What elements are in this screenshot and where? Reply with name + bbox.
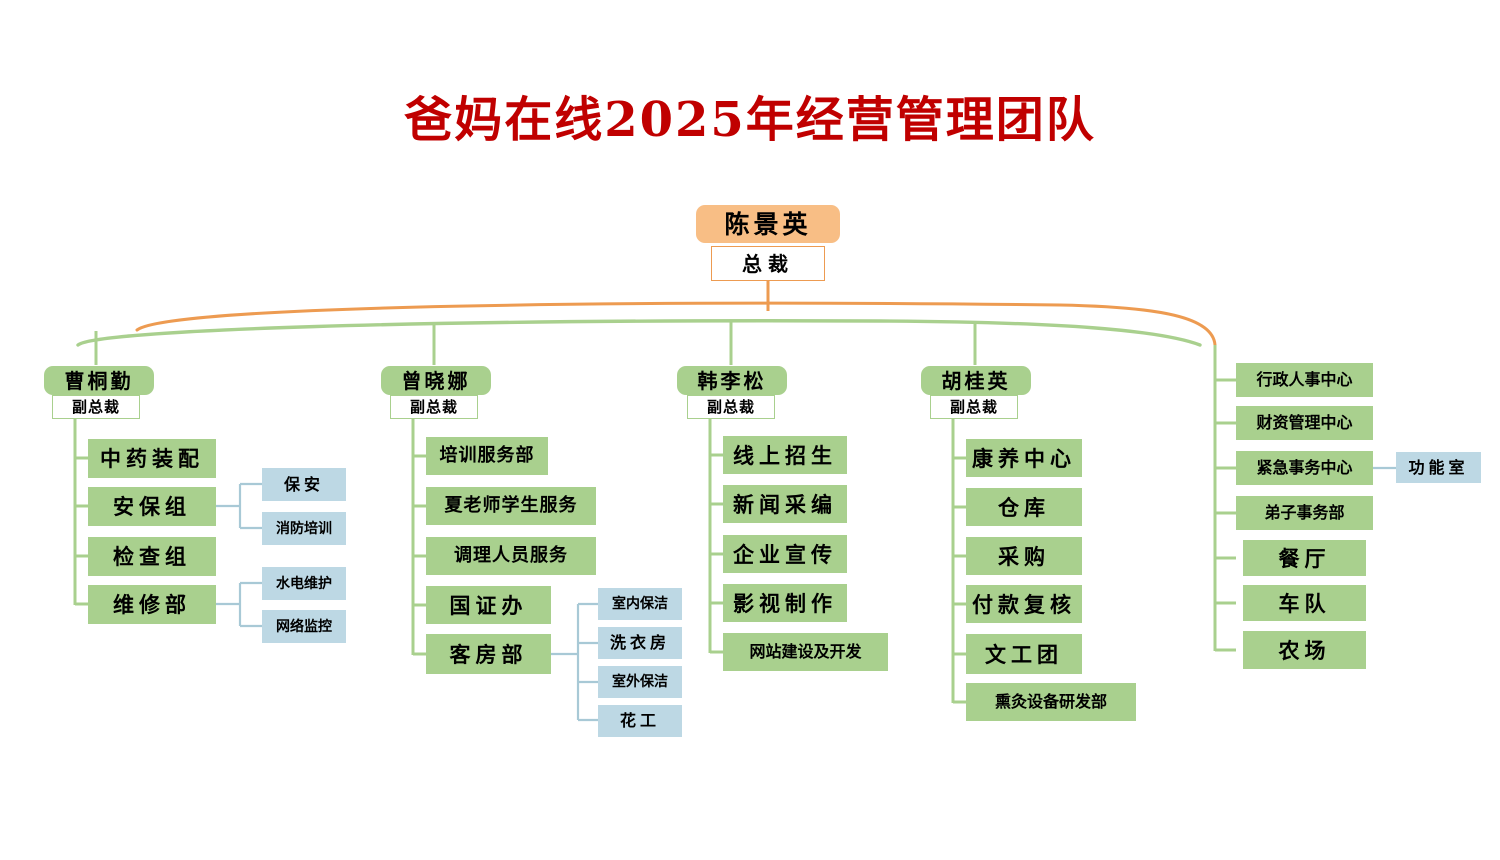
root-role-box[interactable]: 总裁 [711, 246, 825, 281]
dept-box[interactable]: 维修部 [88, 585, 216, 624]
dept-box[interactable]: 采购 [966, 537, 1082, 575]
subunit-box[interactable]: 水电维护 [262, 567, 346, 600]
dept-box[interactable]: 夏老师学生服务 [426, 487, 596, 525]
vp-name-box-1[interactable]: 曹桐勤 [44, 366, 154, 395]
subunit-box[interactable]: 消防培训 [262, 512, 346, 545]
dept-box[interactable]: 财资管理中心 [1236, 406, 1373, 440]
vp-name-box-4[interactable]: 胡桂英 [921, 366, 1031, 395]
vp-role-box-3[interactable]: 副总裁 [687, 395, 775, 419]
dept-box[interactable]: 文工团 [966, 634, 1082, 674]
dept-box[interactable]: 新闻采编 [723, 485, 847, 523]
vp-role-box-4[interactable]: 副总裁 [930, 395, 1018, 419]
subunit-box[interactable]: 室外保洁 [598, 666, 682, 698]
dept-box[interactable]: 行政人事中心 [1236, 363, 1373, 397]
subunit-box[interactable]: 花工 [598, 705, 682, 737]
dept-box[interactable]: 调理人员服务 [426, 537, 596, 575]
subunit-box[interactable]: 室内保洁 [598, 588, 682, 620]
dept-box[interactable]: 培训服务部 [426, 437, 548, 475]
vp-role-box-2[interactable]: 副总裁 [390, 395, 478, 419]
dept-box[interactable]: 安保组 [88, 487, 216, 526]
dept-box[interactable]: 康养中心 [966, 439, 1082, 477]
subunit-box[interactable]: 网络监控 [262, 610, 346, 643]
dept-box[interactable]: 熏灸设备研发部 [966, 683, 1136, 721]
dept-box[interactable]: 餐厅 [1243, 540, 1366, 576]
root-name-box[interactable]: 陈景英 [696, 205, 840, 243]
dept-box[interactable]: 线上招生 [723, 436, 847, 474]
dept-box[interactable]: 国证办 [426, 586, 551, 624]
dept-box[interactable]: 付款复核 [966, 585, 1082, 623]
dept-box[interactable]: 车队 [1243, 585, 1366, 621]
green-arc [78, 321, 1200, 345]
org-chart-canvas: 爸妈在线2025年经营管理团队 [0, 0, 1500, 860]
dept-box[interactable]: 网站建设及开发 [723, 633, 888, 671]
subunit-box[interactable]: 洗衣房 [598, 627, 682, 659]
dept-box[interactable]: 影视制作 [723, 584, 847, 622]
vp-role-box-1[interactable]: 副总裁 [52, 395, 140, 419]
vp-name-box-2[interactable]: 曾晓娜 [381, 366, 491, 395]
dept-box[interactable]: 客房部 [426, 634, 551, 674]
dept-box[interactable]: 农场 [1243, 631, 1366, 669]
dept-box[interactable]: 紧急事务中心 [1236, 451, 1373, 485]
subunit-box[interactable]: 功能室 [1396, 452, 1481, 483]
subunit-box[interactable]: 保安 [262, 468, 346, 501]
dept-box[interactable]: 企业宣传 [723, 535, 847, 573]
dept-box[interactable]: 弟子事务部 [1236, 496, 1373, 530]
dept-box[interactable]: 检查组 [88, 537, 216, 576]
dept-box[interactable]: 中药装配 [88, 439, 216, 478]
vp-name-box-3[interactable]: 韩李松 [677, 366, 787, 395]
dept-box[interactable]: 仓库 [966, 488, 1082, 526]
